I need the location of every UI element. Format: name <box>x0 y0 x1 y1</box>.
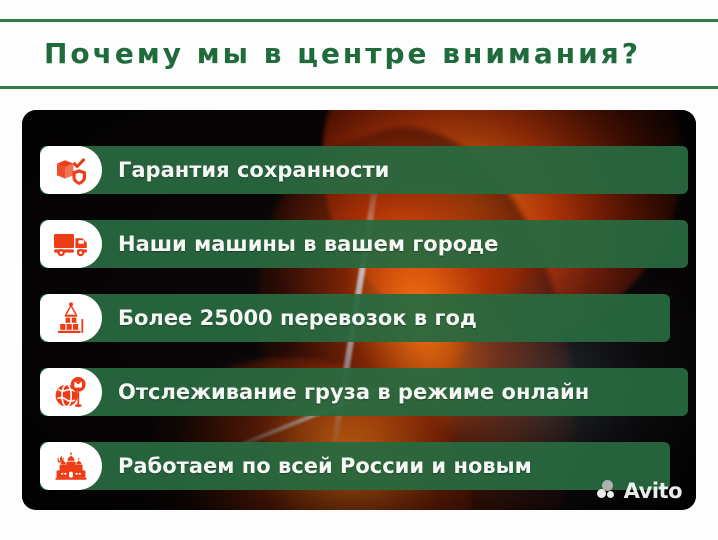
feature-label: Отслеживание груза в режиме онлайн <box>118 382 589 403</box>
globe-tracking-pin-icon <box>40 368 102 416</box>
feature-row[interactable]: Гарантия сохранности <box>40 146 389 194</box>
delivery-truck-icon <box>40 220 102 268</box>
crane-cargo-icon <box>40 294 102 342</box>
feature-label: Более 25000 перевозок в год <box>118 308 477 329</box>
feature-label: Наши машины в вашем городе <box>118 234 498 255</box>
screenshot-root: Почему мы в центре внимания? <box>0 0 718 540</box>
page-header: Почему мы в центре внимания? <box>0 19 718 89</box>
feature-label: Гарантия сохранности <box>118 160 389 181</box>
feature-row[interactable]: Более 25000 перевозок в год <box>40 294 477 342</box>
feature-row[interactable]: Отслеживание груза в режиме онлайн <box>40 368 589 416</box>
features-card: Гарантия сохранности <box>22 110 696 510</box>
avito-dots-icon <box>597 480 619 502</box>
feature-label: Работаем по всей России и новым <box>118 456 532 477</box>
avito-watermark-text: Avito <box>624 481 682 502</box>
feature-row[interactable]: Работаем по всей России и новым <box>40 442 532 490</box>
kremlin-cathedral-icon <box>40 442 102 490</box>
feature-list: Гарантия сохранности <box>22 110 696 510</box>
box-shield-check-icon <box>40 146 102 194</box>
avito-watermark: Avito <box>597 480 682 502</box>
feature-row[interactable]: Наши машины в вашем городе <box>40 220 498 268</box>
page-title: Почему мы в центре внимания? <box>44 40 641 68</box>
